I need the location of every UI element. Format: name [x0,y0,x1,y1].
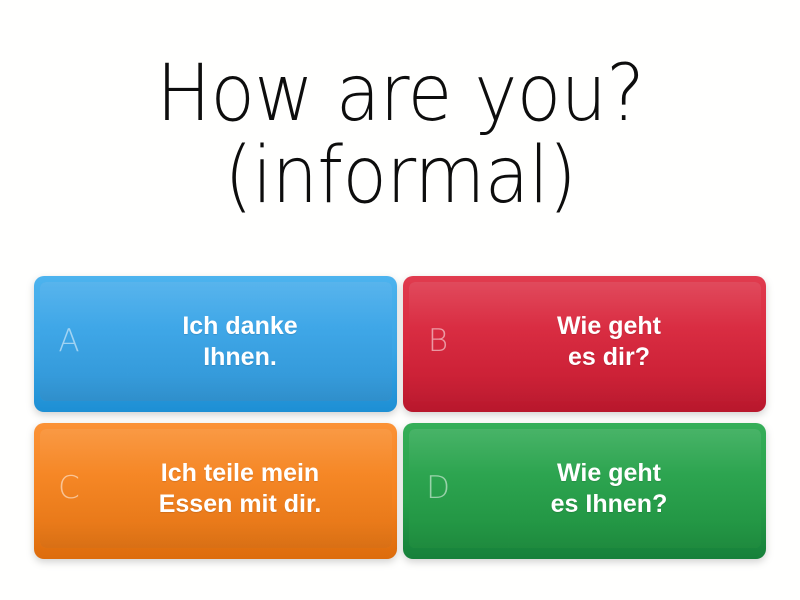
answer-text-c: Ich teile mein Essen mit dir. [98,458,392,519]
answer-letter-c: C [40,473,98,504]
question-area: How are you? (informal) [0,20,800,252]
answer-letter-b: B [409,326,467,357]
answer-text-a: Ich danke Ihnen. [98,311,392,372]
answer-option-a-surface: A Ich danke Ihnen. [40,282,392,401]
question-text: How are you? (informal) [156,54,644,218]
answer-option-a[interactable]: A Ich danke Ihnen. [34,276,397,412]
answer-letter-d: D [409,473,467,504]
answer-option-c-surface: C Ich teile mein Essen mit dir. [40,429,392,548]
answer-option-c[interactable]: C Ich teile mein Essen mit dir. [34,423,397,559]
answer-text-b: Wie geht es dir? [467,311,761,372]
answer-letter-a: A [40,326,98,357]
answer-option-b[interactable]: B Wie geht es dir? [403,276,766,412]
answer-option-d[interactable]: D Wie geht es Ihnen? [403,423,766,559]
answer-options-grid: A Ich danke Ihnen. B Wie geht es dir? C … [34,276,766,559]
answer-text-d: Wie geht es Ihnen? [467,458,761,519]
answer-option-b-surface: B Wie geht es dir? [409,282,761,401]
quiz-screen: How are you? (informal) A Ich danke Ihne… [0,0,800,600]
answer-option-d-surface: D Wie geht es Ihnen? [409,429,761,548]
